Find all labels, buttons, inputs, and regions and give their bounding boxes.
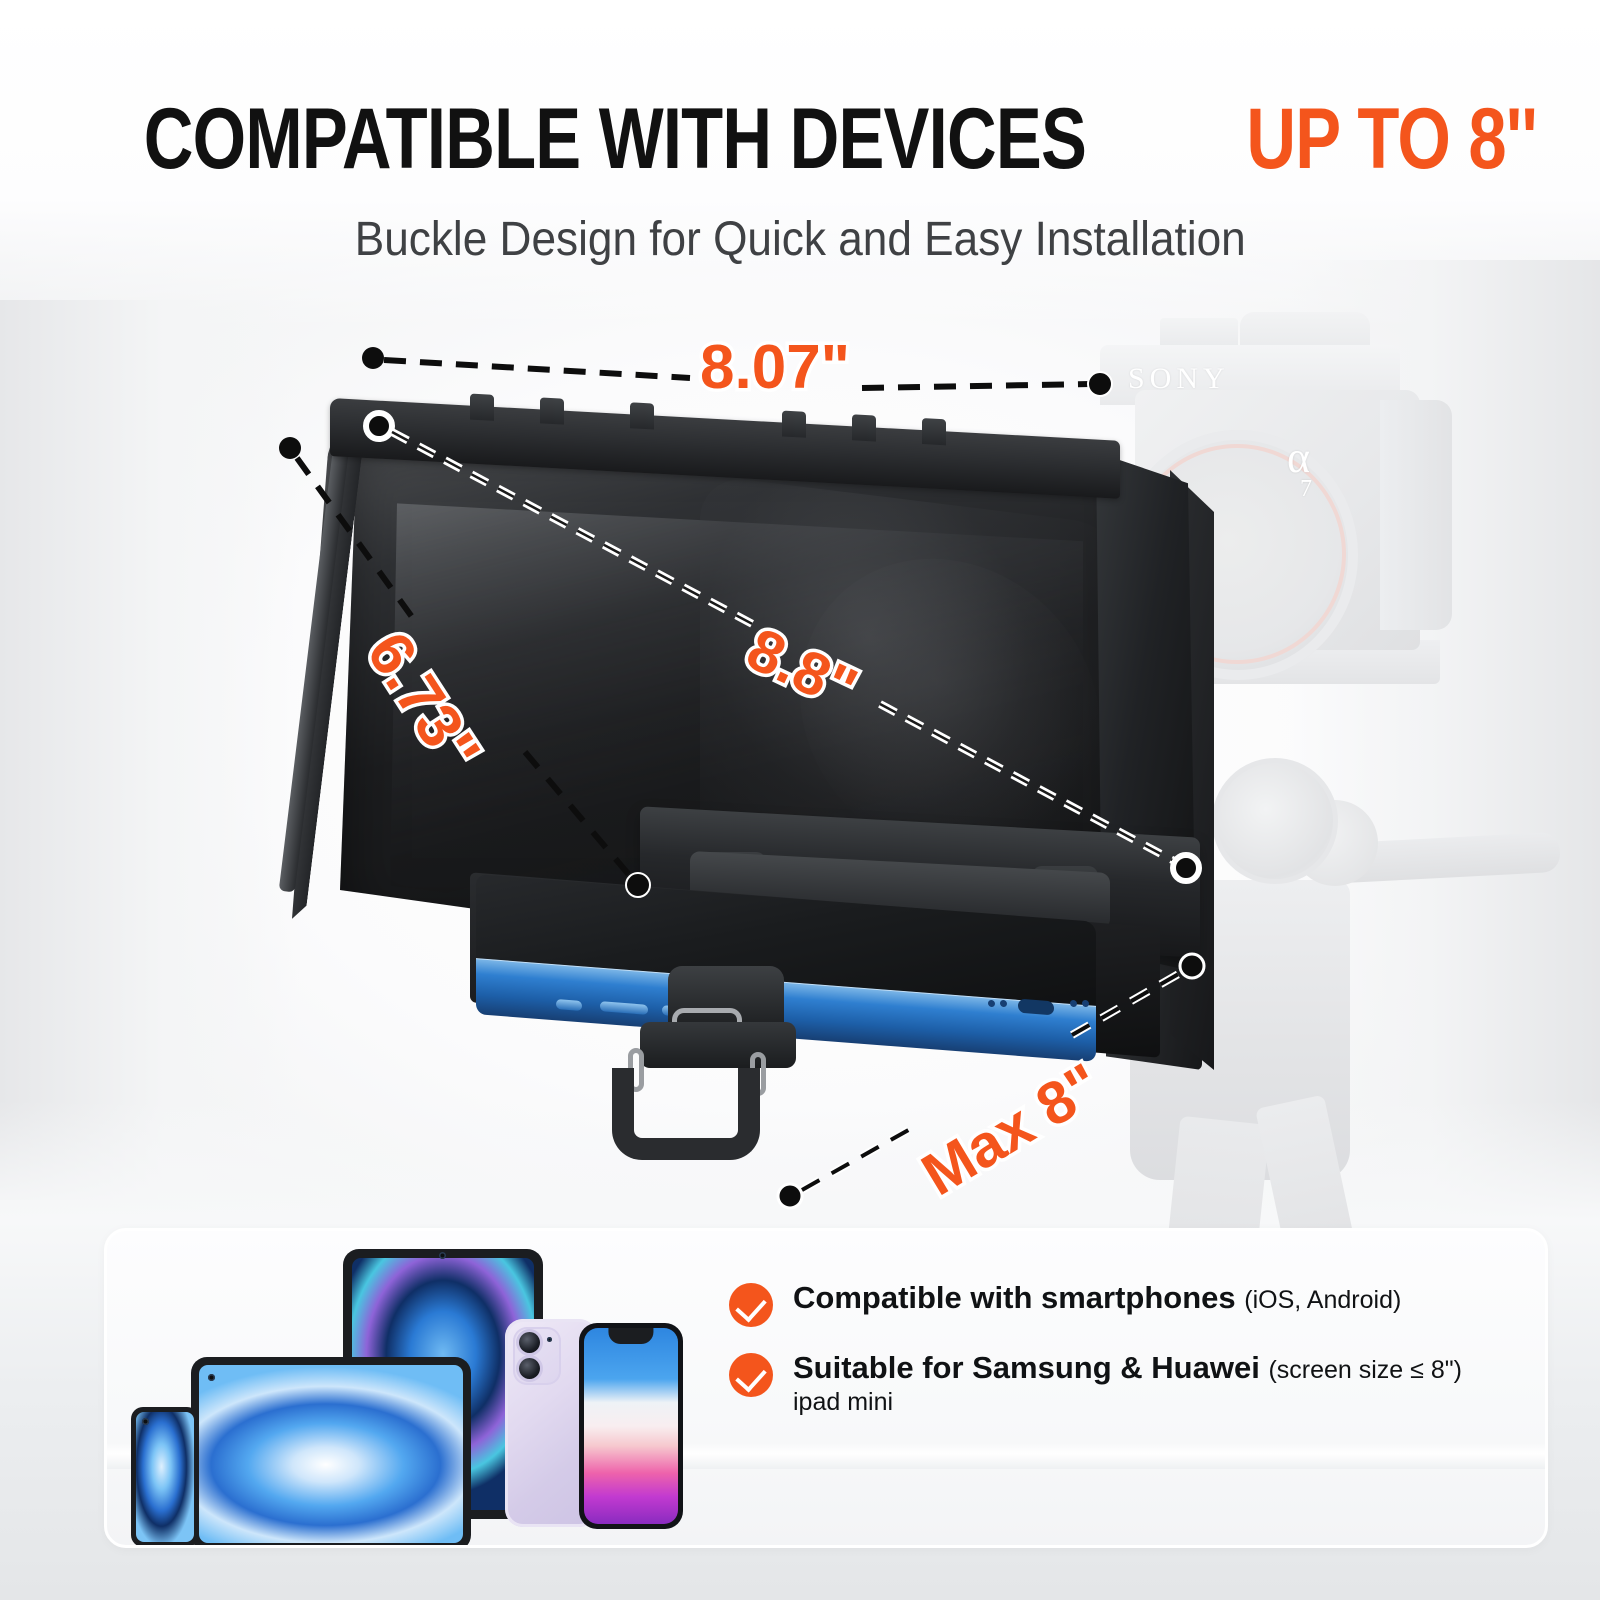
feature-item: Compatible with smartphones (iOS, Androi… [729,1279,1529,1327]
tablet-camera-icon [208,1374,215,1381]
feature-note-text: (iOS, Android) [1244,1286,1401,1314]
feature-extra-text: ipad mini [793,1387,1462,1418]
small-phone-wallpaper [136,1412,194,1542]
tripod-dial [1212,758,1338,884]
phone-button [556,999,582,1011]
phone-speaker-hole [1000,1000,1007,1008]
phone-charging-port [1018,999,1054,1016]
feature-list: Compatible with smartphones (iOS, Androi… [729,1279,1529,1439]
iphone-screen [584,1328,678,1524]
phone-speaker-hole [1070,1000,1077,1008]
compatibility-card: Compatible with smartphones (iOS, Androi… [104,1228,1548,1548]
feature-item: Suitable for Samsung & Huawei (screen si… [729,1349,1529,1417]
camera-brand-label: SONY [1128,362,1230,396]
ipad-air-camera-icon [439,1252,446,1259]
feature-text: Compatible with smartphones (iOS, Androi… [793,1279,1401,1317]
check-circle-icon [729,1283,773,1327]
hood-rib [470,394,494,421]
check-circle-icon [729,1353,773,1397]
buckle-body [640,1022,796,1068]
dimension-label-width: 8.07" [700,332,850,403]
buckle-hook [612,1068,760,1160]
small-phone-screen [136,1412,194,1542]
phone-back-lens [519,1332,540,1353]
product-infographic: COMPATIBLE WITH DEVICESUP TO 8'' Buckle … [0,0,1600,1600]
feature-note-text: (screen size ≤ 8") [1268,1356,1461,1384]
camera-model-number: 7 [1300,476,1312,503]
hood-rib [922,418,946,445]
feature-text: Suitable for Samsung & Huawei (screen si… [793,1349,1462,1417]
camera-grip [1380,400,1452,630]
hood-rib [630,402,654,429]
phone-back-flash-icon [547,1337,552,1342]
tablet-wallpaper [199,1365,463,1543]
feature-main-text: Compatible with smartphones [793,1280,1236,1315]
feature-main-text: Suitable for Samsung & Huawei [793,1350,1260,1385]
phone-speaker-hole [1082,1000,1089,1008]
iphone-notch [608,1328,653,1344]
small-phone-camera-icon [142,1418,149,1425]
phone-back-lens [519,1358,540,1379]
hood-rib [782,410,806,437]
hood-rib [852,414,876,441]
phone-speaker-hole [988,1000,995,1008]
iphone-wallpaper [584,1328,678,1524]
tablet-screen [199,1365,463,1543]
hood-rib [540,397,564,424]
